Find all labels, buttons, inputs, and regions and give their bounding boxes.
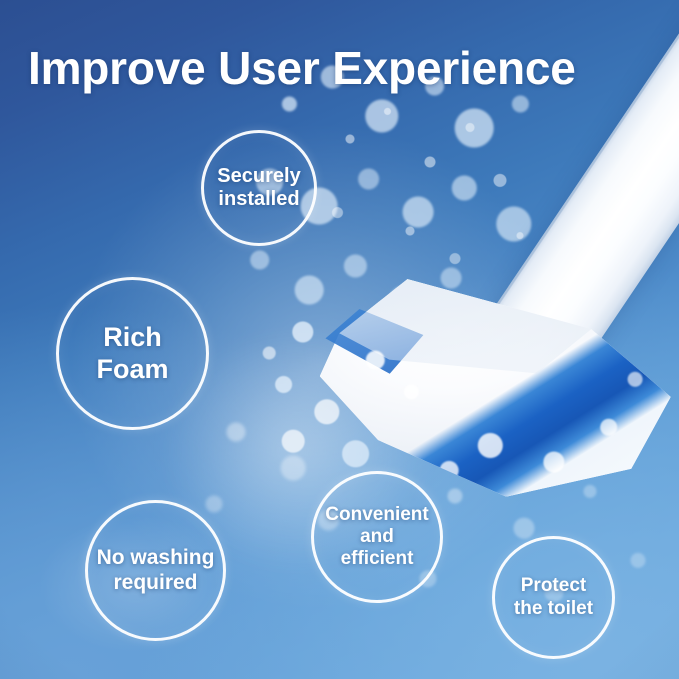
badge-line-1: Securely [217,165,300,187]
badge-securely-installed-label: Securely installed [209,165,308,211]
product-feature-banner: Improve User Experience Securely install… [0,0,679,679]
badge-no-washing-required-label: No washing required [89,546,223,595]
badge-line-2: the toilet [514,598,593,619]
badge-line-2: required [113,571,197,594]
badge-no-washing-required: No washing required [85,500,226,641]
badge-convenient-and-efficient-label: Convenient and efficient [314,504,440,570]
badge-line-1: No washing [97,546,215,569]
badge-rich-foam-label: Rich Foam [59,322,206,385]
badge-line-1: Rich Foam [96,322,168,383]
badge-line-1: Convenient [325,504,428,525]
badge-protect-the-toilet-label: Protect the toilet [506,575,601,619]
badge-line-1: Protect [521,575,586,596]
badge-protect-the-toilet: Protect the toilet [492,536,615,659]
badge-securely-installed: Securely installed [201,130,317,246]
badge-rich-foam: Rich Foam [56,277,209,430]
badge-line-2: installed [218,188,299,210]
badge-convenient-and-efficient: Convenient and efficient [311,471,443,603]
page-title: Improve User Experience [28,44,576,93]
badge-line-2: and efficient [341,526,414,569]
